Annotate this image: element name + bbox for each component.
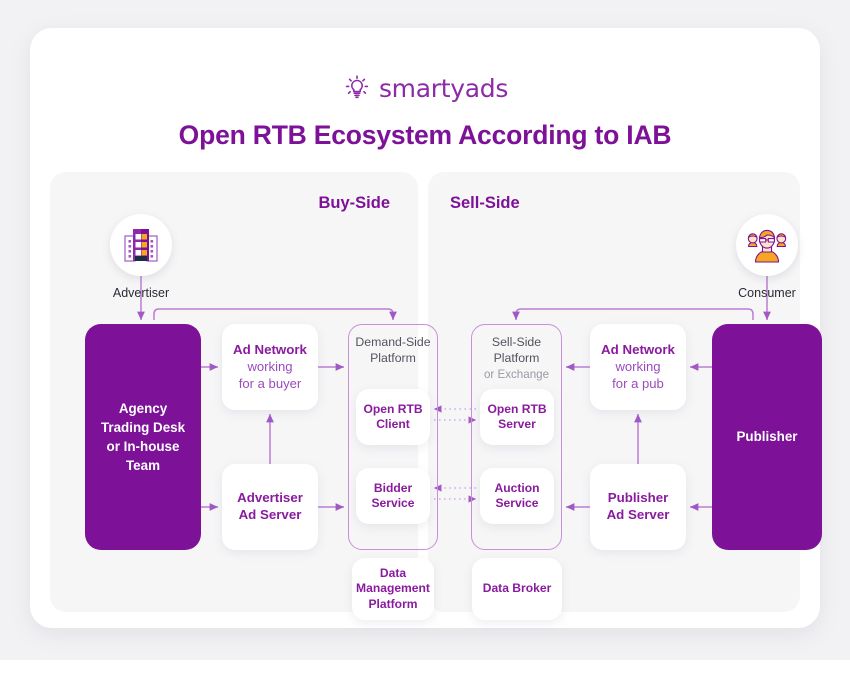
people-group-icon	[744, 222, 790, 268]
node-auction-service[interactable]: Auction Service	[480, 468, 554, 524]
node-publisher[interactable]: Publisher	[712, 324, 822, 550]
office-building-icon	[119, 223, 163, 267]
sell-side-label: Sell-Side	[450, 194, 520, 213]
page-title: Open RTB Ecosystem According to IAB	[30, 120, 820, 151]
consumer-label: Consumer	[707, 286, 827, 300]
node-advertiser-ad-server[interactable]: Advertiser Ad Server	[222, 464, 318, 550]
node-data-management-platform[interactable]: Data Management Platform	[352, 558, 434, 620]
node-agency-trading-desk[interactable]: Agency Trading Desk or In-house Team	[85, 324, 201, 550]
diagram-page: smartyads Open RTB Ecosystem According t…	[0, 0, 850, 660]
brand-logo: smartyads	[30, 68, 820, 108]
dsp-title: Demand-Side Platform	[348, 334, 438, 367]
node-bidder-service[interactable]: Bidder Service	[356, 468, 430, 524]
node-open-rtb-server[interactable]: Open RTB Server	[480, 389, 554, 445]
buy-side-label: Buy-Side	[318, 194, 390, 213]
brand-name: smartyads	[379, 74, 508, 103]
advertiser-avatar	[110, 214, 172, 276]
ssp-title: Sell-Side Platform or Exchange	[471, 334, 562, 382]
node-publisher-ad-server[interactable]: Publisher Ad Server	[590, 464, 686, 550]
node-ad-network-publisher[interactable]: Ad Network working for a pub	[590, 324, 686, 410]
lightbulb-icon	[342, 73, 372, 103]
node-data-broker[interactable]: Data Broker	[472, 558, 562, 620]
node-ad-network-buyer[interactable]: Ad Network working for a buyer	[222, 324, 318, 410]
node-open-rtb-client[interactable]: Open RTB Client	[356, 389, 430, 445]
consumer-avatar	[736, 214, 798, 276]
content-card: smartyads Open RTB Ecosystem According t…	[30, 28, 820, 628]
advertiser-label: Advertiser	[81, 286, 201, 300]
